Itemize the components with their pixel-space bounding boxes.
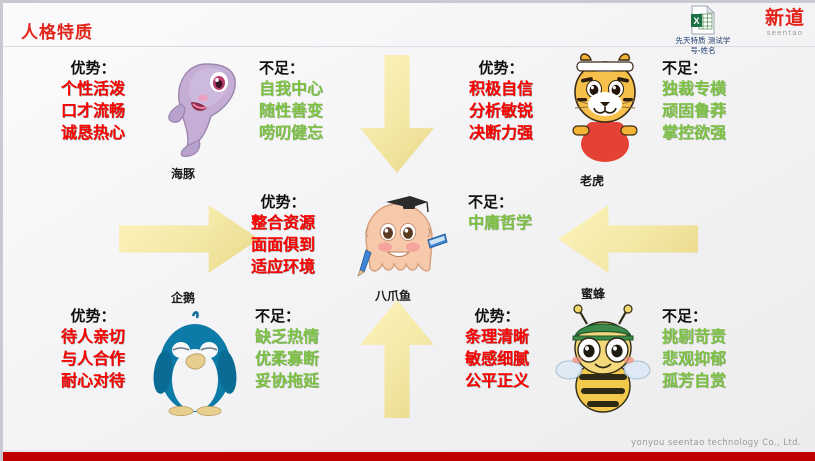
dolphin-strength-block: 优势： 个性活泼 口才流畅 诚恳热心 — [61, 58, 125, 144]
bee-weakness-item-1: 挑剔苛责 — [662, 326, 726, 348]
dolphin-strength-heading: 优势： — [61, 58, 125, 78]
bee-weakness-block: 不足： 挑剔苛责 悲观抑郁 孤芳自赏 — [662, 306, 726, 392]
tiger-strength-heading: 优势： — [469, 58, 533, 78]
penguin-strength-heading: 优势： — [61, 306, 125, 326]
dolphin-weakness-item-1: 自我中心 — [259, 78, 323, 100]
excel-file-icon: X — [690, 5, 716, 35]
octopus-strength-item-3: 适应环境 — [251, 256, 315, 278]
dolphin-label: 海豚 — [171, 165, 195, 182]
penguin-strength-item-3: 耐心对待 — [61, 370, 125, 392]
attachment-caption-line1: 先天特质 测试学 — [655, 36, 751, 45]
bee-weakness-heading: 不足： — [662, 306, 726, 326]
octopus-weakness-heading: 不足： — [468, 192, 532, 212]
brand-name-cn: 新道 — [765, 8, 805, 28]
slide-canvas: 人格特质 X 先天特质 测试学 号-姓名 新道 seentao — [0, 0, 815, 461]
dolphin-icon — [161, 52, 251, 162]
arrow-left-icon — [558, 205, 698, 273]
penguin-weakness-item-1: 缺乏热情 — [255, 326, 319, 348]
tiger-weakness-block: 不足： 独裁专横 顽固鲁莽 掌控欲强 — [662, 58, 726, 144]
octopus-icon — [348, 190, 448, 290]
bee-strength-item-3: 公平正义 — [465, 370, 529, 392]
attachment-caption-line2: 号-姓名 — [655, 46, 751, 55]
octopus-weakness-block: 不足： 中庸哲学 — [468, 192, 532, 234]
bee-strength-item-1: 条理清晰 — [465, 326, 529, 348]
dolphin-strength-item-2: 口才流畅 — [61, 100, 125, 122]
bottom-accent-bar — [3, 452, 815, 461]
dolphin-weakness-item-3: 唠叨健忘 — [259, 122, 323, 144]
bee-strength-block: 优势： 条理清晰 敏感细腻 公平正义 — [465, 306, 529, 392]
octopus-strength-heading: 优势： — [251, 192, 315, 212]
penguin-weakness-block: 不足： 缺乏热情 优柔寡断 妥协拖延 — [255, 306, 319, 392]
attachment-thumbnail[interactable]: X 先天特质 测试学 号-姓名 — [655, 5, 751, 55]
penguin-weakness-heading: 不足： — [255, 306, 319, 326]
tiger-icon — [555, 48, 655, 166]
tiger-weakness-heading: 不足： — [662, 58, 726, 78]
header-right-cluster: X 先天特质 测试学 号-姓名 新道 seentao — [649, 3, 809, 47]
tiger-strength-item-1: 积极自信 — [469, 78, 533, 100]
dolphin-strength-item-1: 个性活泼 — [61, 78, 125, 100]
penguin-icon — [145, 310, 245, 416]
footer-copyright: yonyou seentao technology Co., Ltd. — [631, 438, 801, 448]
penguin-strength-item-2: 与人合作 — [61, 348, 125, 370]
tiger-weakness-item-2: 顽固鲁莽 — [662, 100, 726, 122]
bee-icon — [551, 304, 655, 416]
dolphin-weakness-item-2: 随性善变 — [259, 100, 323, 122]
dolphin-strength-item-3: 诚恳热心 — [61, 122, 125, 144]
dolphin-weakness-heading: 不足： — [259, 58, 323, 78]
svg-text:X: X — [693, 16, 699, 26]
tiger-strength-block: 优势： 积极自信 分析敏锐 决断力强 — [469, 58, 533, 144]
penguin-strength-block: 优势： 待人亲切 与人合作 耐心对待 — [61, 306, 125, 392]
octopus-label: 八爪鱼 — [375, 287, 411, 304]
arrow-down-icon — [360, 55, 434, 173]
tiger-weakness-item-1: 独裁专横 — [662, 78, 726, 100]
arrow-right-icon — [119, 205, 259, 273]
brand-logo: 新道 seentao — [765, 8, 805, 37]
bee-strength-item-2: 敏感细腻 — [465, 348, 529, 370]
arrow-up-icon — [360, 300, 434, 418]
octopus-weakness-item-1: 中庸哲学 — [468, 212, 532, 234]
bee-strength-heading: 优势： — [465, 306, 529, 326]
bee-weakness-item-2: 悲观抑郁 — [662, 348, 726, 370]
bee-label: 蜜蜂 — [581, 285, 605, 302]
octopus-strength-block: 优势： 整合资源 面面俱到 适应环境 — [251, 192, 315, 278]
penguin-weakness-item-3: 妥协拖延 — [255, 370, 319, 392]
penguin-label: 企鹅 — [171, 289, 195, 306]
octopus-strength-item-1: 整合资源 — [251, 212, 315, 234]
penguin-strength-item-1: 待人亲切 — [61, 326, 125, 348]
brand-name-en: seentao — [765, 29, 805, 37]
tiger-weakness-item-3: 掌控欲强 — [662, 122, 726, 144]
tiger-strength-item-2: 分析敏锐 — [469, 100, 533, 122]
penguin-weakness-item-2: 优柔寡断 — [255, 348, 319, 370]
bee-weakness-item-3: 孤芳自赏 — [662, 370, 726, 392]
octopus-strength-item-2: 面面俱到 — [251, 234, 315, 256]
page-title: 人格特质 — [21, 18, 93, 43]
tiger-strength-item-3: 决断力强 — [469, 122, 533, 144]
dolphin-weakness-block: 不足： 自我中心 随性善变 唠叨健忘 — [259, 58, 323, 144]
tiger-label: 老虎 — [580, 172, 604, 189]
